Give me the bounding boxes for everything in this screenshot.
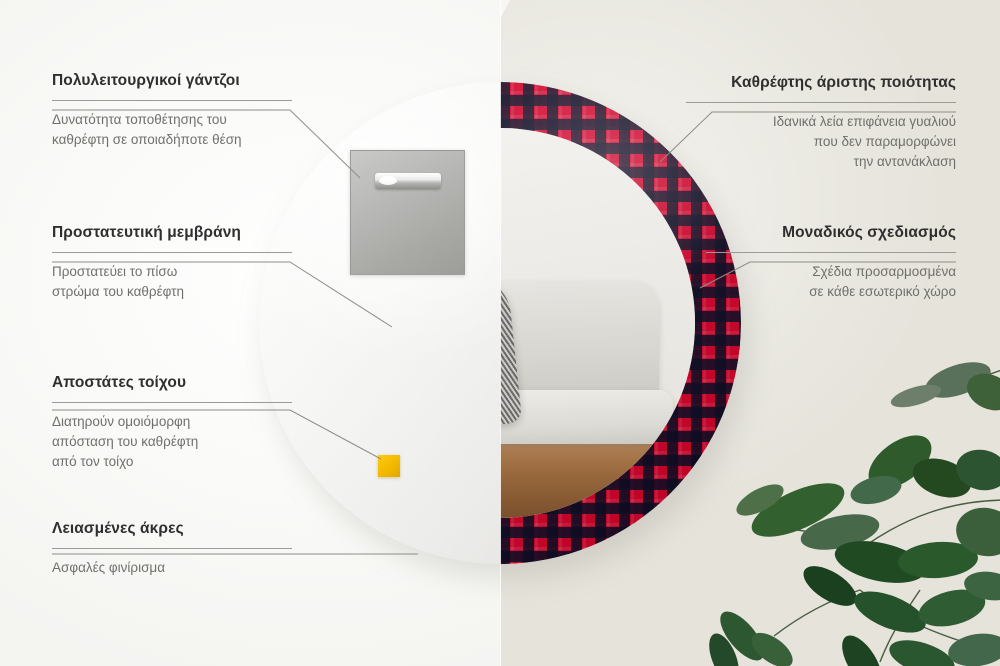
hook-plate — [350, 150, 465, 275]
callout-design-description: Σχέδια προσαρμοσμένα σε κάθε εσωτερικό χ… — [706, 262, 956, 303]
callout-hooks-title: Πολυλειτουργικοί γάντζοι — [52, 72, 292, 91]
callout-quality: Καθρέφτης άριστης ποιότητας Ιδανικά λεία… — [686, 74, 956, 172]
callout-hooks: Πολυλειτουργικοί γάντζοι Δυνατότητα τοπο… — [52, 72, 292, 150]
callout-spacers: Αποστάτες τοίχου Διατηρούν ομοιόμορφη απ… — [52, 374, 292, 472]
callout-membrane-description: Προστατεύει το πίσω στρώμα του καθρέφτη — [52, 262, 292, 303]
callout-membrane-rule — [52, 252, 292, 253]
metal-hook-icon — [375, 173, 441, 189]
callout-membrane-title: Προστατευτική μεμβράνη — [52, 224, 292, 243]
callout-membrane: Προστατευτική μεμβράνη Προστατεύει το πί… — [52, 224, 292, 302]
callout-design-title: Μοναδικός σχεδιασμός — [706, 224, 956, 243]
spacer-chip — [378, 455, 400, 477]
callout-edges-description: Ασφαλές φινίρισμα — [52, 558, 292, 578]
callout-edges-title: Λειασμένες άκρες — [52, 520, 292, 539]
callout-edges-rule — [52, 548, 292, 549]
callout-hooks-rule — [52, 100, 292, 101]
callout-quality-description: Ιδανικά λεία επιφάνεια γυαλιού που δεν π… — [686, 112, 956, 173]
callout-spacers-rule — [52, 402, 292, 403]
callout-design: Μοναδικός σχεδιασμός Σχέδια προσαρμοσμέν… — [706, 224, 956, 302]
panel-divider — [500, 0, 501, 666]
callout-hooks-description: Δυνατότητα τοποθέτησης του καθρέφτη σε ο… — [52, 110, 292, 151]
callout-spacers-title: Αποστάτες τοίχου — [52, 374, 292, 393]
callout-design-rule — [706, 252, 956, 253]
callout-quality-rule — [686, 102, 956, 103]
callout-quality-title: Καθρέφτης άριστης ποιότητας — [686, 74, 956, 93]
infographic-canvas: Πολυλειτουργικοί γάντζοι Δυνατότητα τοπο… — [0, 0, 1000, 666]
callout-spacers-description: Διατηρούν ομοιόμορφη απόσταση του καθρέφ… — [52, 412, 292, 473]
callout-edges: Λειασμένες άκρες Ασφαλές φινίρισμα — [52, 520, 292, 578]
